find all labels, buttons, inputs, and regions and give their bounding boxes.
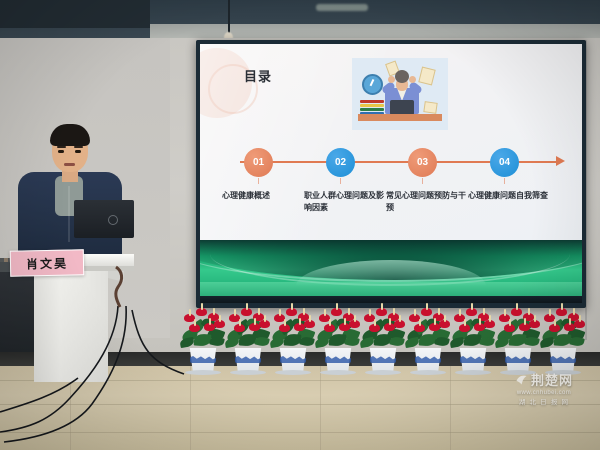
spadix xyxy=(434,318,436,325)
slide-illustration xyxy=(352,58,448,130)
spadix xyxy=(471,303,473,310)
clock-icon xyxy=(362,74,383,95)
speaker-name-text: 肖文昊 xyxy=(26,254,68,272)
timeline-number: 02 xyxy=(335,157,346,168)
spadix xyxy=(528,308,530,315)
leaf xyxy=(524,335,540,347)
spadix xyxy=(579,315,581,322)
spadix xyxy=(348,308,350,315)
leaf xyxy=(389,335,405,347)
spadix xyxy=(399,315,401,322)
spadix xyxy=(524,318,526,325)
spadix xyxy=(569,318,571,325)
speaker-hair xyxy=(50,124,90,146)
ceiling-beam xyxy=(0,0,150,28)
spadix xyxy=(329,319,331,326)
figure-hair xyxy=(395,70,409,83)
leaf xyxy=(419,333,437,346)
desk-shape xyxy=(358,114,442,121)
pot-saucer xyxy=(320,370,356,375)
spadix xyxy=(324,309,326,316)
spadix xyxy=(459,309,461,316)
timeline-number: 03 xyxy=(417,157,428,168)
paper-icon xyxy=(423,101,437,114)
leaf xyxy=(479,335,495,347)
spadix xyxy=(483,308,485,315)
timeline-number: 01 xyxy=(253,157,264,168)
spadix xyxy=(309,315,311,322)
potted-plant xyxy=(450,304,496,370)
pot-saucer xyxy=(455,370,491,375)
presentation-slide: 目录 xyxy=(200,44,582,240)
floor-cables xyxy=(0,300,300,450)
spadix xyxy=(414,309,416,316)
spadix xyxy=(573,308,575,315)
bird-logo-icon xyxy=(515,374,528,386)
leaf xyxy=(569,335,585,347)
leaf xyxy=(299,335,315,347)
leaf xyxy=(464,333,482,346)
spadix xyxy=(344,318,346,325)
timeline-label-02: 职业人群心理问题及影响因素 xyxy=(304,190,390,213)
laptop-icon xyxy=(390,100,414,115)
podium-cable-hook xyxy=(100,265,140,310)
spadix xyxy=(549,309,551,316)
spadix xyxy=(393,308,395,315)
pot-saucer xyxy=(365,370,401,375)
spadix xyxy=(444,315,446,322)
spadix xyxy=(426,303,428,310)
spadix xyxy=(534,315,536,322)
jacket-zipper xyxy=(68,186,70,242)
pot-saucer xyxy=(410,370,446,375)
leaf xyxy=(434,335,450,347)
speaker-nameplate: 肖文昊 xyxy=(10,249,85,277)
paper-icon xyxy=(418,67,435,86)
timeline-label-04: 心理健康问题自我筛查 xyxy=(468,190,554,202)
presentation-photo-scene: 目录 xyxy=(0,0,600,450)
leaf xyxy=(344,335,360,347)
pendant-rod xyxy=(228,0,230,36)
spadix xyxy=(438,308,440,315)
spadix xyxy=(336,303,338,310)
timeline-label-03: 常见心理问题预防与干预 xyxy=(386,190,472,213)
spadix xyxy=(554,319,556,326)
ceiling-light xyxy=(316,4,368,11)
watermark: 荆楚网 www.cnhubei.com 湖 北 日 报 网 xyxy=(492,370,596,400)
timeline-number: 04 xyxy=(499,157,510,168)
potted-plant xyxy=(540,304,586,370)
watermark-subtitle: 湖 北 日 报 网 xyxy=(492,396,596,406)
led-screen: 目录 xyxy=(200,44,582,302)
leaf xyxy=(374,333,392,346)
timeline-node-02: 02 xyxy=(326,148,355,177)
spadix xyxy=(381,303,383,310)
potted-plant xyxy=(360,304,406,370)
spadix xyxy=(509,319,511,326)
speaker-mouth xyxy=(64,163,75,166)
slide-title: 目录 xyxy=(244,66,272,85)
spadix xyxy=(303,308,305,315)
spadix xyxy=(419,319,421,326)
figure-hand xyxy=(409,76,416,83)
timeline-node-01: 01 xyxy=(244,148,273,177)
figure-hand xyxy=(388,76,395,83)
watermark-brand: 荆楚网 xyxy=(531,370,573,389)
timeline-arrow-icon xyxy=(556,156,565,166)
spadix xyxy=(479,318,481,325)
leaf xyxy=(509,333,527,346)
presenter-laptop xyxy=(74,200,134,238)
potted-plant xyxy=(495,304,541,370)
potted-plant xyxy=(315,304,361,370)
laptop-logo-icon xyxy=(108,215,118,225)
timeline-node-03: 03 xyxy=(408,148,437,177)
books-icon xyxy=(360,100,384,114)
spadix xyxy=(374,319,376,326)
spadix xyxy=(464,319,466,326)
timeline-node-04: 04 xyxy=(490,148,519,177)
spadix xyxy=(561,303,563,310)
timeline-label-01: 心理健康概述 xyxy=(222,190,308,202)
leaf xyxy=(329,333,347,346)
spadix xyxy=(354,315,356,322)
leaf xyxy=(554,333,572,346)
spadix xyxy=(369,309,371,316)
spadix xyxy=(516,303,518,310)
potted-plant xyxy=(405,304,451,370)
spadix xyxy=(389,318,391,325)
screen-wallpaper-band xyxy=(200,240,582,302)
spadix xyxy=(504,309,506,316)
spadix xyxy=(489,315,491,322)
